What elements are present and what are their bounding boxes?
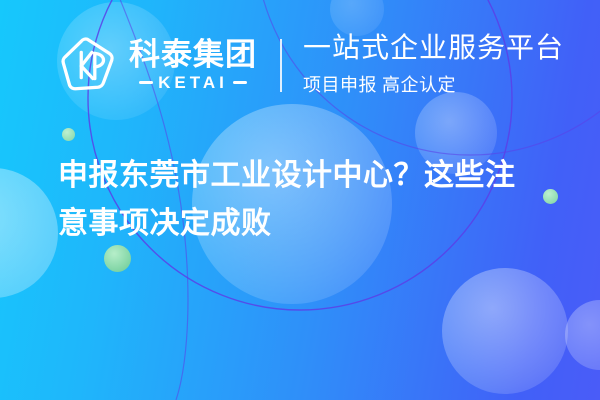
banner-header: 科泰集团 KETAI 一站式企业服务平台 项目申报 高企认定 <box>0 0 600 130</box>
accent-dot-green-left <box>104 245 131 272</box>
headline-line-1: 申报东莞市工业设计中心？这些注 <box>58 152 558 200</box>
brand-rule-left-icon <box>139 81 153 84</box>
ketai-kd-monogram-logo <box>58 34 120 96</box>
slogan-block: 一站式企业服务平台 项目申报 高企认定 <box>303 33 564 97</box>
brand-name-en-row: KETAI <box>139 74 247 91</box>
brand-name-en: KETAI <box>158 74 228 91</box>
decorative-circle-bottom-right <box>442 268 568 394</box>
decorative-circle-left <box>0 168 58 298</box>
brand-name-cn: 科泰集团 <box>129 39 257 70</box>
slogan-main: 一站式企业服务平台 <box>303 33 564 64</box>
brand-rule-right-icon <box>233 81 247 84</box>
headline-line-2: 意事项决定成败 <box>58 200 558 248</box>
brand-wordmark: 科泰集团 KETAI <box>129 39 257 91</box>
promo-banner: 科泰集团 KETAI 一站式企业服务平台 项目申报 高企认定 申报东莞市工业设计… <box>0 0 600 400</box>
brand-lockup[interactable]: 科泰集团 KETAI <box>58 34 257 96</box>
decorative-circle-far-right <box>565 300 600 370</box>
header-divider <box>280 39 282 92</box>
headline-block: 申报东莞市工业设计中心？这些注 意事项决定成败 <box>58 152 558 248</box>
slogan-sub: 项目申报 高企认定 <box>303 71 564 97</box>
